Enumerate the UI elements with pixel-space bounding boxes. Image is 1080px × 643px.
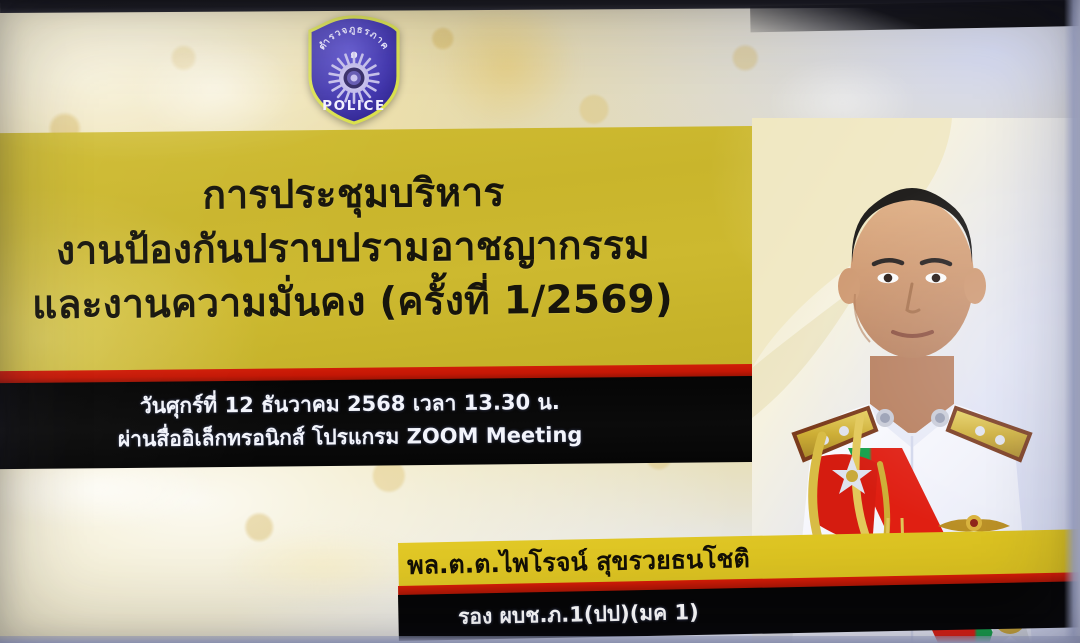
slide-title: การประชุมบริหาร งานป้องกันปราบปรามอาชญาก…: [0, 127, 701, 372]
title-line-2: งานป้องกันปราบปรามอาชญากรรม: [0, 219, 700, 280]
title-line-1: การประชุมบริหาร: [0, 165, 700, 226]
title-line-3: และงานความมั่นคง (ครั้งที่ 1/2569): [0, 273, 700, 334]
projector-screen-bottom-edge: [0, 636, 1080, 643]
officer-name: พล.ต.ต.ไพโรจน์ สุขรวยธนโชติ: [398, 536, 759, 589]
svg-text:POLICE: POLICE: [322, 98, 386, 114]
projected-slide-photo: ตำรวจภูธรภาค ๑: [0, 0, 1080, 643]
meeting-info: วันศุกร์ที่ 12 ธันวาคม 2568 เวลา 13.30 น…: [0, 377, 700, 466]
thai-police-shield-emblem-icon: ตำรวจภูธรภาค ๑: [303, 14, 405, 126]
projector-screen-right-edge: [1064, 0, 1080, 643]
meeting-platform: ผ่านสื่ออิเล็กทรอนิกส์ โปรแกรม ZOOM Meet…: [0, 418, 700, 457]
officer-rank: รอง ผบช.ภ.1(ปป)(มค 1): [398, 589, 759, 640]
